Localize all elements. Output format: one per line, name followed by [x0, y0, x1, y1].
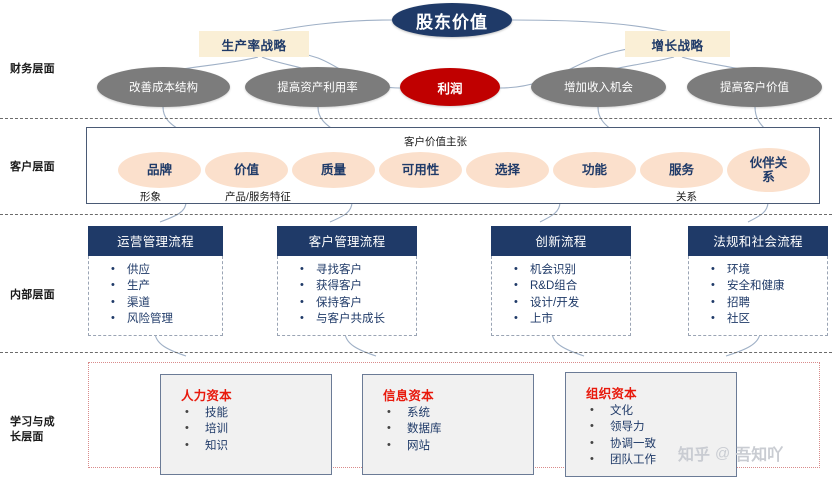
capital-information[interactable]: 信息资本 系统 数据库 网站	[362, 374, 534, 475]
customer-proposition-function[interactable]: 功能	[553, 152, 636, 188]
list-item: 领导力	[590, 419, 736, 435]
list-item: 培训	[185, 421, 331, 437]
list-item: 获得客户	[300, 278, 416, 294]
list-item: 网站	[387, 438, 533, 454]
growth-strategy-box[interactable]: 增长战略	[625, 31, 730, 57]
list-item: 招聘	[711, 295, 827, 311]
process-customer-management[interactable]: 客户管理流程 寻找客户 获得客户 保持客户 与客户共成长	[277, 226, 417, 336]
customer-proposition-partnership-line2: 系	[762, 170, 775, 184]
customer-proposition-partnership[interactable]: 伙伴关 系	[727, 148, 810, 192]
capital-information-title: 信息资本	[363, 385, 533, 404]
capital-organization-title: 组织资本	[566, 383, 736, 402]
customer-proposition-partnership-line1: 伙伴关	[750, 156, 788, 170]
list-item: 供应	[111, 262, 222, 278]
customer-proposition-brand[interactable]: 品牌	[118, 152, 201, 188]
process-customer-management-title: 客户管理流程	[277, 226, 417, 256]
list-item: 上市	[514, 311, 630, 327]
list-item: 系统	[387, 405, 533, 421]
list-item: 数据库	[387, 421, 533, 437]
customer-caption-image: 形象	[140, 189, 161, 204]
layer-label-learning: 学习与成 长层面	[10, 415, 55, 445]
customer-proposition-service[interactable]: 服务	[640, 152, 723, 188]
list-item: 安全和健康	[711, 278, 827, 294]
divider-financial-customer	[0, 118, 832, 119]
process-innovation-body: 机会识别 R&D组合 设计/开发 上市	[491, 256, 631, 336]
customer-panel-title: 客户价值主张	[404, 134, 467, 149]
productivity-strategy-box[interactable]: 生产率战略	[199, 31, 309, 57]
layer-label-customer: 客户层面	[10, 160, 55, 175]
layer-label-learning-line2: 长层面	[10, 431, 44, 443]
list-item: 社区	[711, 311, 827, 327]
capital-human-title: 人力资本	[161, 385, 331, 404]
watermark: 知乎 @ 吾知吖	[678, 441, 783, 465]
process-regulatory-social[interactable]: 法规和社会流程 环境 安全和健康 招聘 社区	[688, 226, 828, 336]
financial-objective-improve-cost-structure[interactable]: 改善成本结构	[97, 67, 230, 107]
list-item: 风险管理	[111, 311, 222, 327]
customer-caption-relationship: 关系	[676, 189, 697, 204]
profit-node[interactable]: 利润	[400, 68, 500, 106]
process-innovation[interactable]: 创新流程 机会识别 R&D组合 设计/开发 上市	[491, 226, 631, 336]
customer-proposition-value[interactable]: 价值	[205, 152, 288, 188]
layer-label-internal: 内部层面	[10, 288, 55, 303]
list-item: 保持客户	[300, 295, 416, 311]
process-innovation-title: 创新流程	[491, 226, 631, 256]
list-item: 知识	[185, 438, 331, 454]
customer-proposition-quality[interactable]: 质量	[292, 152, 375, 188]
process-operations-management-body: 供应 生产 渠道 风险管理	[88, 256, 223, 336]
financial-objective-revenue-opportunity[interactable]: 增加收入机会	[531, 67, 666, 107]
process-operations-management-title: 运营管理流程	[88, 226, 223, 256]
process-regulatory-social-body: 环境 安全和健康 招聘 社区	[688, 256, 828, 336]
customer-proposition-availability[interactable]: 可用性	[379, 152, 462, 188]
list-item: 与客户共成长	[300, 311, 416, 327]
customer-caption-product-service: 产品/服务特征	[225, 189, 291, 204]
process-customer-management-body: 寻找客户 获得客户 保持客户 与客户共成长	[277, 256, 417, 336]
shareholder-value-node[interactable]: 股东价值	[392, 3, 512, 37]
watermark-site: 知乎	[678, 441, 710, 465]
process-regulatory-social-title: 法规和社会流程	[688, 226, 828, 256]
strategy-map-canvas: 财务层面 客户层面 内部层面 学习与成 长层面 股东价值 生产率战略 增长战略 …	[0, 0, 832, 482]
financial-objective-customer-value[interactable]: 提高客户价值	[687, 67, 822, 107]
watermark-at-symbol: @	[715, 445, 730, 462]
list-item: 环境	[711, 262, 827, 278]
list-item: 设计/开发	[514, 295, 630, 311]
capital-human[interactable]: 人力资本 技能 培训 知识	[160, 374, 332, 475]
layer-label-learning-line1: 学习与成	[10, 416, 55, 428]
list-item: 机会识别	[514, 262, 630, 278]
financial-objective-asset-utilization[interactable]: 提高资产利用率	[245, 67, 390, 107]
customer-proposition-choice[interactable]: 选择	[466, 152, 549, 188]
process-operations-management[interactable]: 运营管理流程 供应 生产 渠道 风险管理	[88, 226, 223, 336]
list-item: 寻找客户	[300, 262, 416, 278]
list-item: R&D组合	[514, 278, 630, 294]
layer-label-financial: 财务层面	[10, 62, 55, 77]
watermark-username: 吾知吖	[735, 441, 783, 465]
list-item: 生产	[111, 278, 222, 294]
list-item: 技能	[185, 405, 331, 421]
divider-internal-learning	[0, 352, 832, 353]
list-item: 文化	[590, 403, 736, 419]
divider-customer-internal	[0, 214, 832, 215]
list-item: 渠道	[111, 295, 222, 311]
